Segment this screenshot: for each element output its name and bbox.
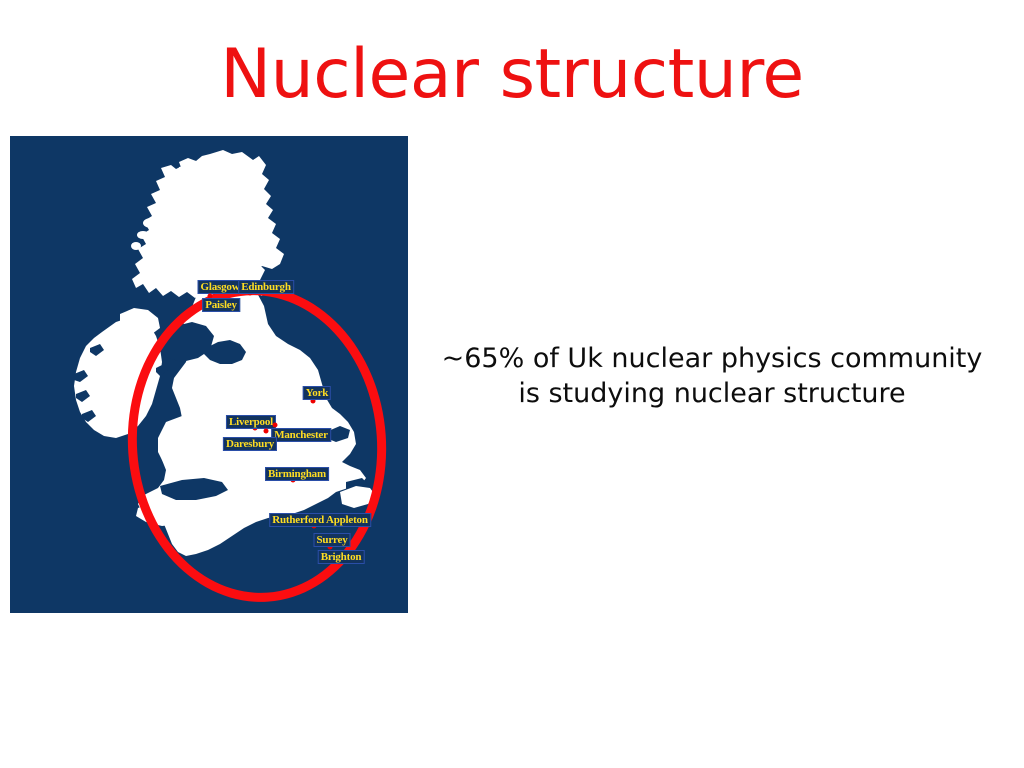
body-text-line-2: is studying nuclear structure (418, 376, 1006, 411)
body-text: ~65% of Uk nuclear physics community is … (418, 341, 1006, 411)
isle-skye (146, 252, 154, 258)
city-label: Daresbury (223, 437, 277, 451)
isle-lewis (143, 218, 159, 228)
isle-mull (153, 260, 167, 268)
city-label: York (303, 386, 331, 400)
city-marker-dot (273, 423, 278, 428)
city-label: Rutherford Appleton (269, 513, 371, 527)
city-label: Glasgow (198, 280, 243, 294)
isle-islay (167, 276, 179, 284)
city-label: Paisley (202, 298, 240, 312)
isle-uist (131, 242, 141, 250)
city-marker-dot (264, 429, 269, 434)
city-label: Liverpool (226, 415, 276, 429)
city-label: Edinburgh (238, 280, 294, 294)
isle-orkney (181, 219, 191, 225)
isle-harris (137, 231, 149, 239)
city-label: Brighton (318, 550, 365, 564)
page-title: Nuclear structure (0, 36, 1024, 114)
body-text-line-1: ~65% of Uk nuclear physics community (418, 341, 1006, 376)
uk-map-image: GlasgowEdinburghPaisleyYorkLiverpoolManc… (10, 136, 408, 613)
city-label: Manchester (271, 428, 331, 442)
city-label: Birmingham (265, 467, 329, 481)
city-label: Surrey (314, 533, 351, 547)
